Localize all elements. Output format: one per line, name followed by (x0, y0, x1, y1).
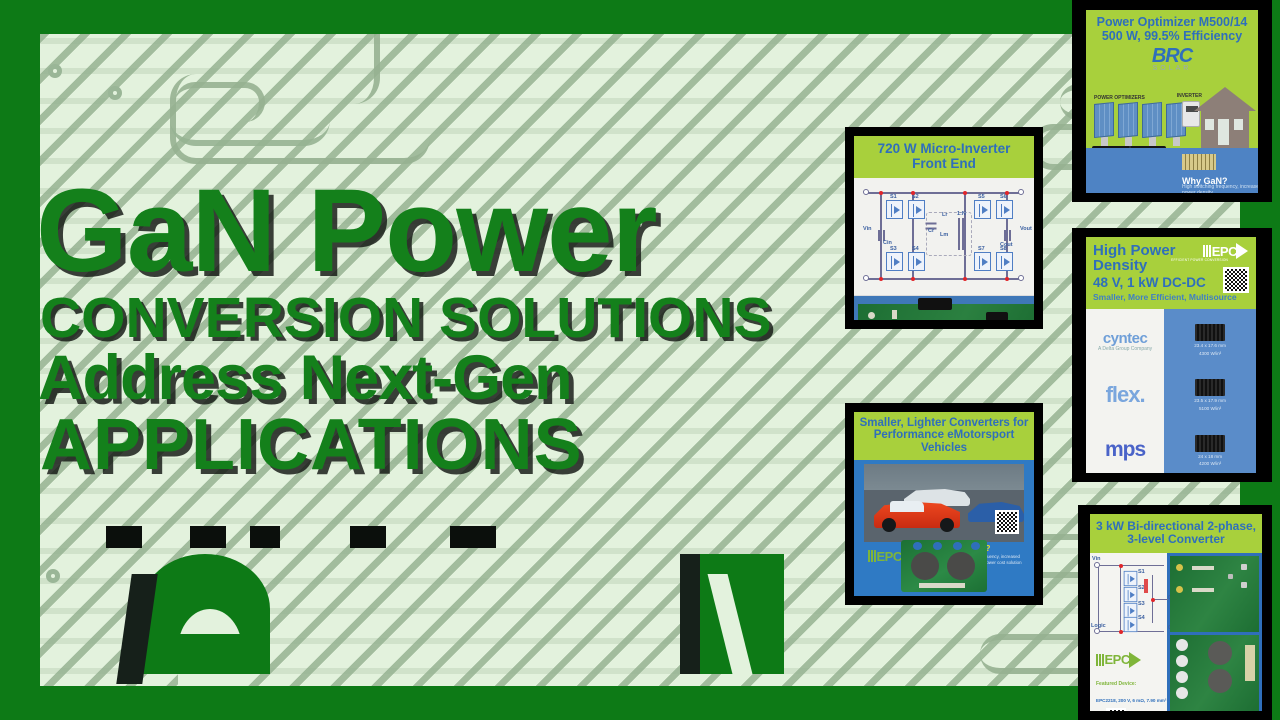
headline-line-4: APPLICATIONS (40, 411, 860, 479)
power-optimizer-caption: Power Optimizer M500/14 500 W, 99.5% Eff… (1086, 10, 1258, 47)
board-connector (971, 542, 980, 550)
bidirectional-pcb-photos (1167, 553, 1262, 711)
module-density: 4300 W/in³ (1194, 351, 1226, 357)
module-item: 23.4 x 17.6 mm 4300 W/in³ (1194, 324, 1226, 356)
schematic-label-vin: Vin (863, 226, 871, 232)
solar-panel-array (1094, 103, 1186, 146)
partner-name: cyntec (1098, 330, 1152, 347)
micro-inverter-schematic: Vin Cin S1 S2 S3 S4 Cr Lr Lm 1:N (854, 178, 1034, 296)
schematic-mosfet (974, 252, 991, 271)
bidirectional-caption-line-1: 3 kW Bi-directional 2-phase, (1093, 520, 1259, 533)
panel-micro-inverter[interactable]: 720 W Micro-Inverter Front End Vin (845, 127, 1043, 329)
pcb-trace (175, 82, 265, 122)
schematic-mosfet (996, 252, 1013, 271)
headline-line-3: Address Next-Gen (38, 349, 860, 409)
schematic-label-vout: Vout (1020, 226, 1032, 232)
pcb-component (1241, 564, 1247, 570)
schematic-mosfet (908, 200, 925, 219)
schematic-switch-label: S3 (890, 246, 897, 252)
module-list: 23.4 x 17.6 mm 4300 W/in³ 23.5 x 17.9 mm… (1164, 309, 1256, 473)
high-power-density-body: cyntec A Delta Group Company flex. mps 2… (1086, 309, 1256, 473)
solar-panel (1142, 103, 1162, 146)
power-optimizer-caption-line-2: 500 W, 99.5% Efficiency (1088, 30, 1256, 44)
module-photo (1195, 324, 1225, 341)
pcb-silkscreen (1192, 588, 1214, 592)
house-door (1218, 119, 1229, 145)
bidirectional-body: Vin Logic Output GND S1 S2 S3 S4 (1090, 553, 1262, 711)
panel-high-power-density[interactable]: High Power Density 48 V, 1 kW DC-DC Smal… (1072, 228, 1272, 482)
label-power-optimizers: POWER OPTIMIZERS (1094, 95, 1145, 101)
schematic-switch-label: S2 (912, 194, 919, 200)
bidirectional-caption: 3 kW Bi-directional 2-phase, 3-level Con… (1090, 514, 1262, 553)
featured-device-label: Featured Device: (1096, 681, 1136, 688)
schematic-label-cout: Cout (1000, 242, 1013, 248)
pcb-ic (986, 312, 1008, 320)
schematic-resonant-tank (926, 212, 972, 256)
board-connector (953, 542, 962, 550)
epc-logo: EPC (1096, 652, 1141, 668)
schematic-label-lm: Lm (940, 232, 948, 238)
epc-logo-bars (868, 550, 876, 562)
panel-micro-inverter-inner: 720 W Micro-Inverter Front End Vin (854, 136, 1034, 320)
headline-line-1: GaN Power (36, 175, 860, 287)
schematic-label-logic: Logic (1091, 623, 1106, 629)
pcb-pad (108, 86, 122, 100)
schematic-switch-label: S1 (1138, 569, 1145, 575)
converter-board-photo (901, 540, 987, 592)
module-density: 4200 W/in³ (1195, 461, 1225, 467)
pcb-component (1241, 582, 1247, 588)
panel-bidirectional-inner: 3 kW Bi-directional 2-phase, 3-level Con… (1090, 514, 1262, 711)
pcb-contact-finger (106, 526, 142, 548)
partner-logo-cyntec: cyntec A Delta Group Company (1098, 330, 1152, 352)
schematic-transformer-core (962, 218, 964, 250)
hpd-caption-line-4: Smaller, More Efficient, Multisource (1093, 292, 1249, 302)
pcb-silkscreen (1192, 566, 1214, 570)
pcb-contact-finger (250, 526, 280, 548)
epc-logo-arrow-icon (1129, 652, 1141, 668)
emotorsport-caption-line-1: Smaller, Lighter Converters for (857, 417, 1031, 429)
pcb-component (1228, 574, 1233, 579)
pcb-pad (48, 64, 62, 78)
schematic-switch-label: S4 (912, 246, 919, 252)
emotorsport-caption: Smaller, Lighter Converters for Performa… (854, 412, 1034, 460)
solar-panel (1118, 103, 1138, 146)
board-capacitor (947, 552, 975, 580)
why-gan-subtext: High switching frequency, increased powe… (1182, 185, 1258, 193)
bidirectional-caption-line-2: 3-level Converter (1093, 533, 1259, 546)
epc-logo-arrow-icon (1236, 243, 1248, 259)
qr-code[interactable] (1106, 708, 1126, 711)
micro-inverter-pcb-photo (854, 296, 1034, 320)
micro-inverter-caption-line-2: Front End (858, 157, 1030, 172)
board-silkscreen (919, 583, 965, 588)
module-item: 23.5 x 17.9 mm 5100 W/in³ (1194, 379, 1226, 411)
pcb-board-top (1170, 556, 1259, 632)
gan-chip-icon (1182, 154, 1216, 170)
module-density: 5100 W/in³ (1194, 406, 1226, 412)
electrolytic-cap (1176, 639, 1188, 651)
module-photo (1195, 435, 1225, 452)
high-power-density-caption: High Power Density 48 V, 1 kW DC-DC Smal… (1086, 237, 1256, 309)
module-item: 24 x 18 mm 4200 W/in³ (1195, 435, 1225, 467)
schematic-mosfet (996, 200, 1013, 219)
electrolytic-cap (1176, 671, 1188, 683)
schematic-switch-label: S4 (1138, 615, 1145, 621)
house-walls (1201, 111, 1249, 149)
qr-code[interactable] (1223, 267, 1249, 293)
pcb-board (858, 304, 1034, 320)
schematic-label-lr: Lr (942, 212, 948, 218)
emotorsport-caption-line-2: Performance eMotorsport Vehicles (857, 429, 1031, 454)
electrolytic-cap (1176, 655, 1188, 667)
schematic-label-cr: Cr (928, 228, 934, 234)
pcb-connector (892, 310, 897, 319)
board-capacitor (911, 552, 939, 580)
house-window (1234, 119, 1243, 130)
slide-canvas: GaN Power CONVERSION SOLUTIONS Address N… (0, 0, 1280, 720)
schematic-mosfet (974, 200, 991, 219)
epc-logo-text: EPC (1212, 244, 1237, 259)
schematic-mosfet (1124, 587, 1138, 602)
panel-bidirectional-converter[interactable]: 3 kW Bi-directional 2-phase, 3-level Con… (1078, 505, 1272, 720)
power-optimizer-caption-line-1: Power Optimizer M500/14 (1088, 16, 1256, 30)
board-capacitor (1208, 669, 1232, 693)
schematic-mosfet (1124, 617, 1138, 632)
race-car-photo (864, 464, 1024, 542)
epc-logo-bars (1203, 245, 1211, 257)
pcb-blob-dark (680, 554, 700, 674)
schematic-switch-label: S5 (978, 194, 985, 200)
schematic-resonant-cap (926, 223, 937, 225)
pcb-contact-finger (350, 526, 386, 548)
panel-power-optimizer-inner: Power Optimizer M500/14 500 W, 99.5% Eff… (1086, 10, 1258, 193)
panel-power-optimizer[interactable]: Power Optimizer M500/14 500 W, 99.5% Eff… (1072, 0, 1272, 202)
pcb-pad (1176, 564, 1183, 571)
solar-panel (1094, 103, 1114, 146)
house-window (1205, 119, 1214, 130)
qr-code[interactable] (995, 510, 1019, 534)
schematic-inductor (1144, 579, 1148, 593)
schematic-mosfet (908, 252, 925, 271)
schematic-transformer-core (958, 218, 960, 250)
module-size: 23.5 x 17.9 mm (1194, 398, 1226, 404)
pcb-connector (1245, 645, 1255, 681)
brc-logo-subtext: SOLAR (1086, 65, 1258, 72)
partner-logos: cyntec A Delta Group Company flex. mps (1086, 309, 1164, 473)
epc-logo-subtext: EFFICIENT POWER CONVERSION (1171, 258, 1228, 262)
partner-subtitle: A Delta Group Company (1098, 346, 1152, 352)
schematic-switch-label: S1 (890, 194, 897, 200)
panel-emotorsport[interactable]: Smaller, Lighter Converters for Performa… (845, 403, 1043, 605)
module-size: 24 x 18 mm (1195, 454, 1225, 460)
epc-logo: EPC (1203, 243, 1248, 259)
epc-logo-text: EPC (1105, 652, 1130, 667)
schematic-switch-label: S6 (1000, 194, 1007, 200)
module-photo (1195, 379, 1225, 396)
house-illustration (1194, 87, 1256, 149)
pcb-contact-finger (190, 526, 226, 548)
partner-logo-mps: mps (1105, 438, 1145, 462)
race-car-windshield (890, 501, 924, 512)
schematic-switch-label: S3 (1138, 601, 1145, 607)
pcb-connector (868, 312, 875, 319)
epc-logo-bars (1096, 654, 1104, 666)
board-connector (933, 542, 942, 550)
pcb-contact-finger (450, 526, 496, 548)
pcb-board-bottom (1170, 635, 1259, 711)
module-size: 23.4 x 17.6 mm (1194, 343, 1226, 349)
board-connector (913, 542, 922, 550)
panel-emotorsport-inner: Smaller, Lighter Converters for Performa… (854, 412, 1034, 596)
epc-logo-text: EPC (877, 549, 902, 564)
schematic-switch-label: S7 (978, 246, 985, 252)
schematic-mosfet (886, 252, 903, 271)
pcb-ic (918, 298, 952, 310)
micro-inverter-caption-line-1: 720 W Micro-Inverter (858, 142, 1030, 157)
headline-line-2: CONVERSION SOLUTIONS (40, 291, 860, 345)
featured-device-value: EPC2218, 200 V, 6 mΩ, 7.90 mm² (1096, 698, 1166, 704)
house-roof (1194, 87, 1256, 111)
schematic-mosfet (1124, 571, 1138, 586)
partner-logo-flex: flex. (1106, 382, 1145, 408)
headline-block: GaN Power CONVERSION SOLUTIONS Address N… (30, 175, 860, 479)
schematic-label-turns: 1:N (957, 211, 966, 217)
board-capacitor (1208, 641, 1232, 665)
panel-high-power-density-inner: High Power Density 48 V, 1 kW DC-DC Smal… (1086, 237, 1256, 473)
pcb-pad (1176, 586, 1183, 593)
schematic-mosfet (1124, 603, 1138, 618)
micro-inverter-caption: 720 W Micro-Inverter Front End (854, 136, 1034, 178)
pcb-pad (46, 569, 60, 583)
bidirectional-schematic: Vin Logic Output GND S1 S2 S3 S4 (1090, 553, 1167, 711)
schematic-label-vin: Vin (1092, 556, 1100, 562)
pcb-blob (140, 634, 270, 674)
power-optimizer-illustration: BRC SOLAR POWER OPTIMIZERS INVERTER (1086, 45, 1258, 193)
brc-logo: BRC SOLAR (1086, 45, 1258, 72)
schematic-mosfet (886, 200, 903, 219)
electrolytic-cap (1176, 687, 1188, 699)
